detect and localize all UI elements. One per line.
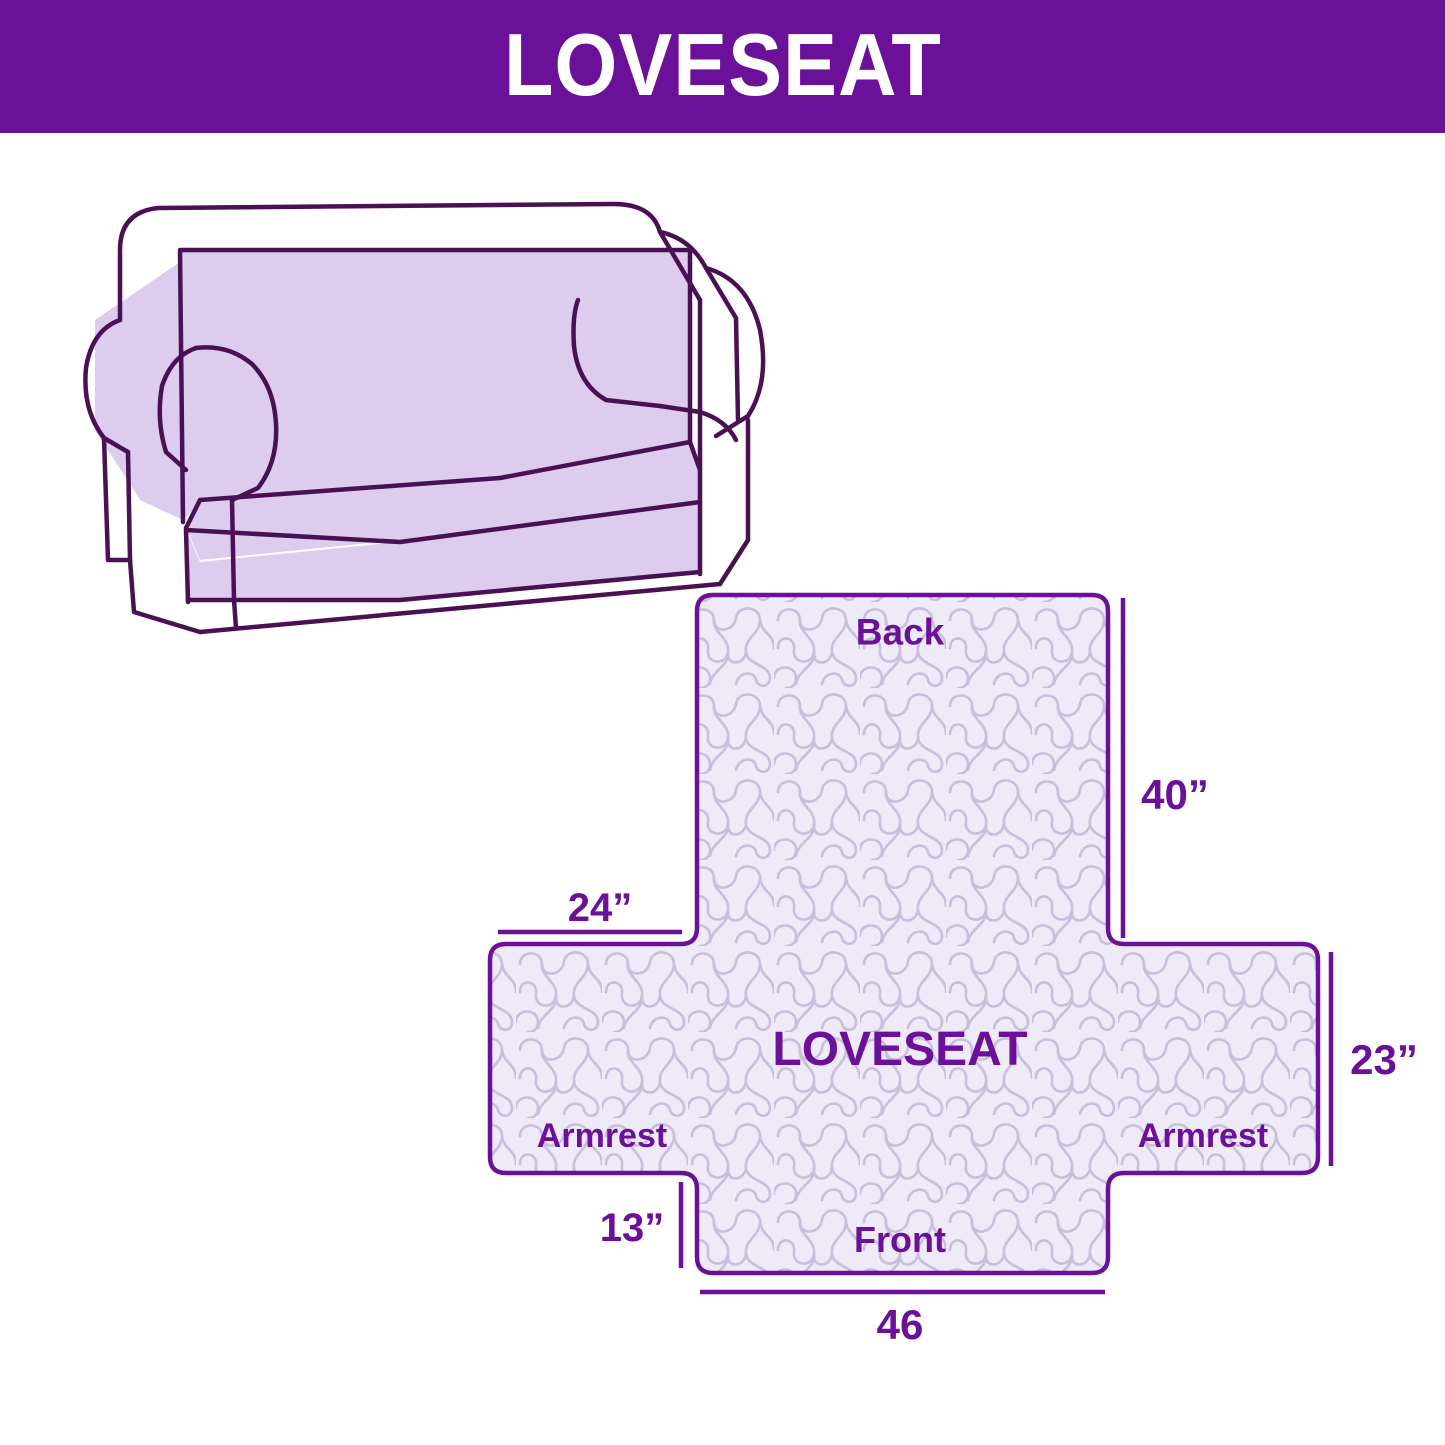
panel-label-armrest-left: Armrest [537,1119,667,1153]
dimension-label-total-width: 46 [877,1304,924,1346]
panel-label-front: Front [854,1222,946,1258]
dimension-label-front-height: 13” [600,1208,665,1248]
slipcover-pattern-diagram [0,0,1445,1445]
dimension-label-back-offset: 24” [568,888,633,928]
poster-canvas: LOVESEAT [0,0,1445,1445]
dimension-label-armrest-depth: 23” [1350,1039,1418,1081]
panel-label-back: Back [856,614,944,651]
panel-label-armrest-right: Armrest [1138,1119,1268,1153]
pattern-center-label: LOVESEAT [772,1026,1027,1074]
dimension-label-back-height: 40” [1141,774,1209,816]
